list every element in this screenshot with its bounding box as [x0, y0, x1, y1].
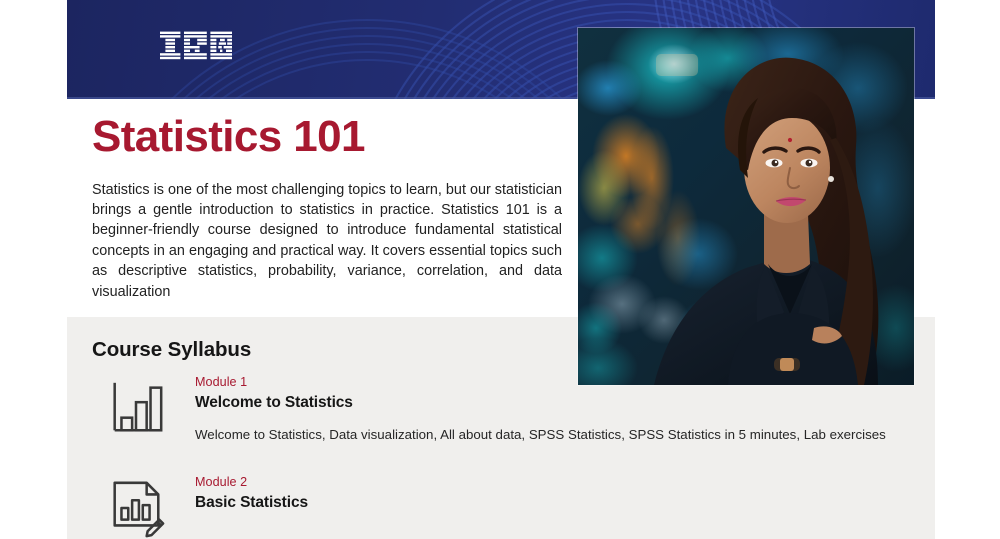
- module-number: Module 2: [195, 474, 910, 490]
- course-landing-page: Statistics 101 Statistics is one of the …: [0, 0, 1000, 539]
- document-chart-pencil-icon: [105, 477, 167, 539]
- module-name: Basic Statistics: [195, 492, 910, 514]
- module-topics: Welcome to Statistics, Data visualizatio…: [195, 425, 910, 444]
- instructor-portrait: [578, 28, 914, 385]
- module-list: Module 1 Welcome to Statistics Welcome t…: [67, 373, 935, 539]
- syllabus-heading: Course Syllabus: [92, 338, 251, 362]
- module-name: Welcome to Statistics: [195, 392, 910, 414]
- hero-text-block: Statistics 101 Statistics is one of the …: [92, 113, 562, 302]
- module-row[interactable]: Module 1 Welcome to Statistics Welcome t…: [67, 373, 935, 473]
- ibm-logo[interactable]: [160, 31, 232, 61]
- module-row[interactable]: Module 2 Basic Statistics: [67, 473, 935, 539]
- page-title: Statistics 101: [92, 113, 562, 161]
- course-description: Statistics is one of the most challengin…: [92, 180, 562, 302]
- module-body: Module 2 Basic Statistics: [195, 473, 910, 525]
- bar-chart-icon: [105, 377, 167, 439]
